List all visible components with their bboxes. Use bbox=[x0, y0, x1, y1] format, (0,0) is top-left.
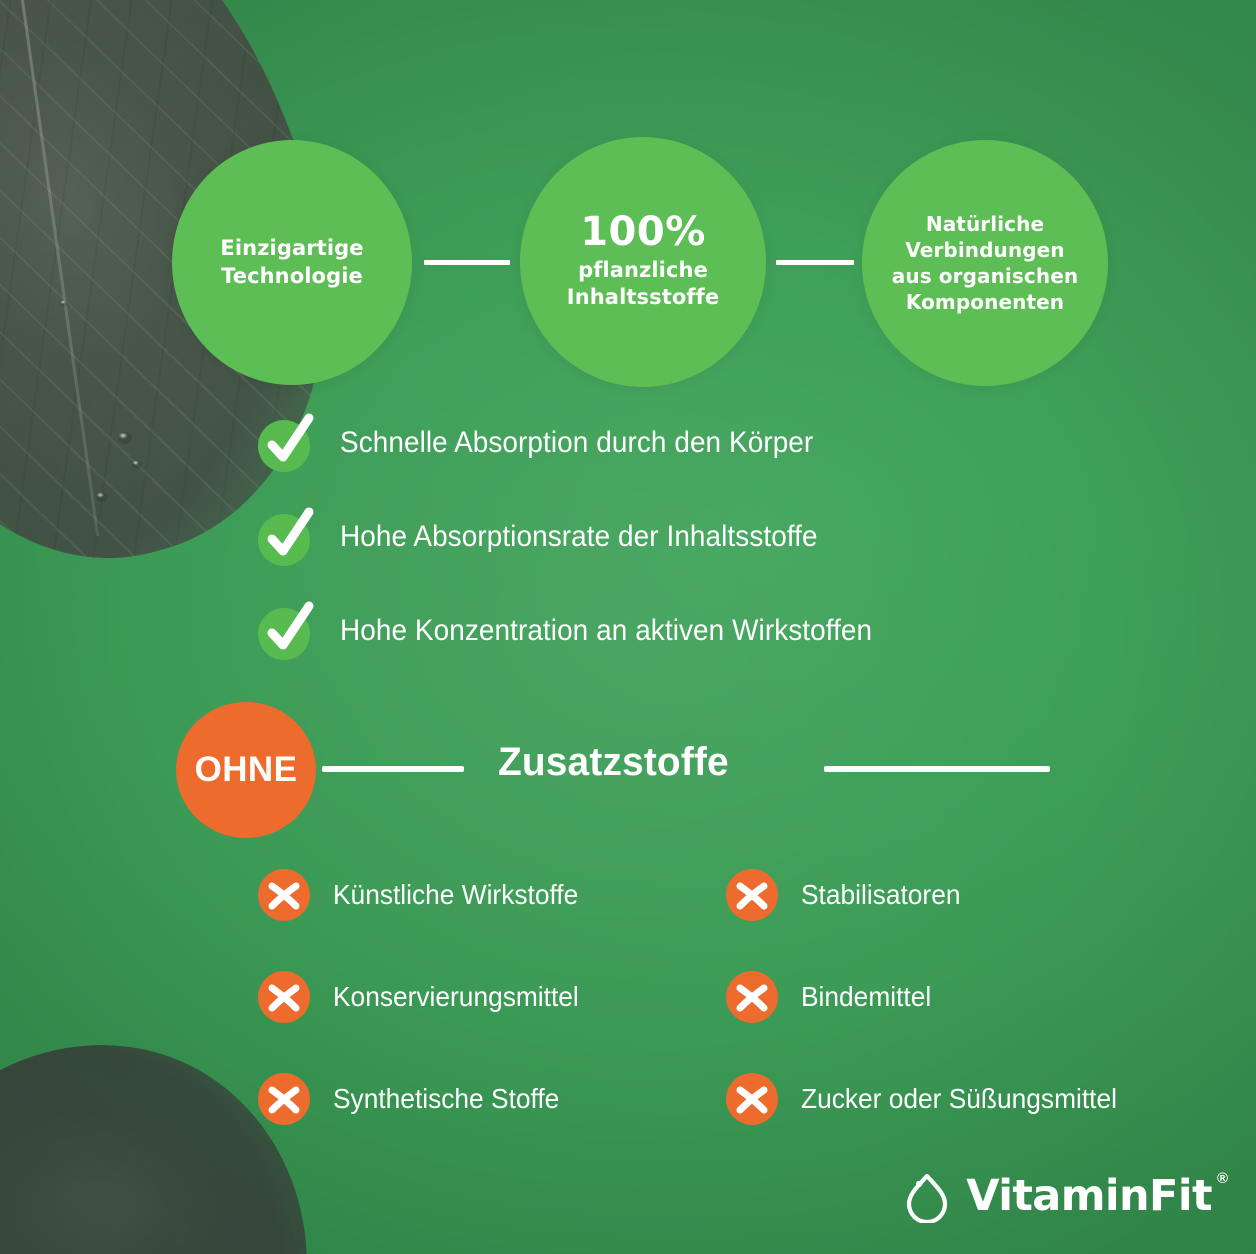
feature-circle-pflanzliche-inhaltsstoffe[interactable]: 100% pflanzliche Inhaltsstoffe bbox=[520, 137, 766, 387]
without-section-header: OHNE Zusatzstoffe bbox=[0, 700, 1256, 840]
feature-circle-line2: Verbindungen bbox=[905, 238, 1064, 262]
exclusion-label: Künstliche Wirkstoffe bbox=[333, 879, 578, 911]
water-drop-icon bbox=[902, 1169, 952, 1223]
exclusion-label: Bindemittel bbox=[801, 981, 931, 1013]
feature-circle-text: Natürliche Verbindungen aus organischen … bbox=[878, 211, 1092, 315]
feature-circle-text: 100% pflanzliche Inhaltsstoffe bbox=[553, 212, 733, 311]
registered-mark: ® bbox=[1217, 1170, 1228, 1187]
feature-circle-line1: Natürliche bbox=[926, 212, 1044, 236]
check-icon bbox=[258, 416, 312, 470]
benefit-row: Schnelle Absorption durch den Körper bbox=[258, 412, 849, 474]
feature-circle-text: Einzigartige Technologie bbox=[206, 235, 377, 290]
exclusion-label: Synthetische Stoffe bbox=[333, 1083, 559, 1115]
exclusion-label: Stabilisatoren bbox=[801, 879, 960, 911]
exclusion-label: Konservierungsmittel bbox=[333, 981, 579, 1013]
x-icon bbox=[258, 1073, 310, 1125]
brand-logo: VitaminFit ® bbox=[902, 1166, 1228, 1226]
exclusion-row: Synthetische Stoffe bbox=[258, 1070, 574, 1128]
feature-circle-line2: Inhaltsstoffe bbox=[567, 285, 719, 309]
ohne-rule-left bbox=[322, 766, 464, 772]
exclusion-row: Zucker oder Süßungsmittel bbox=[726, 1070, 1137, 1128]
brand-name: VitaminFit bbox=[966, 1171, 1212, 1221]
x-icon bbox=[258, 869, 310, 921]
circle-connector-line bbox=[776, 260, 854, 265]
exclusion-label: Zucker oder Süßungsmittel bbox=[801, 1083, 1117, 1115]
exclusion-row: Konservierungsmittel bbox=[258, 968, 594, 1026]
feature-circle-line4: Komponenten bbox=[906, 290, 1064, 314]
exclusion-row: Bindemittel bbox=[726, 968, 940, 1026]
feature-circle-line1: Einzigartige bbox=[220, 236, 363, 260]
check-icon bbox=[258, 510, 312, 564]
feature-circle-line1: pflanzliche bbox=[578, 258, 708, 282]
feature-circle-line3: aus organischen bbox=[892, 264, 1078, 288]
benefit-label: Hohe Konzentration an aktiven Wirkstoffe… bbox=[340, 614, 872, 648]
feature-circle-percent: 100% bbox=[567, 212, 719, 253]
benefit-row: Hohe Konzentration an aktiven Wirkstoffe… bbox=[258, 600, 912, 662]
without-section-title: Zusatzstoffe bbox=[498, 740, 729, 785]
x-icon bbox=[726, 1073, 778, 1125]
feature-circle-line2: Technologie bbox=[221, 264, 363, 288]
feature-circle-natuerliche-verbindungen[interactable]: Natürliche Verbindungen aus organischen … bbox=[862, 140, 1108, 386]
exclusion-row: Künstliche Wirkstoffe bbox=[258, 866, 594, 924]
feature-circle-einzigartige-technologie[interactable]: Einzigartige Technologie bbox=[172, 140, 412, 385]
exclusion-row: Stabilisatoren bbox=[726, 866, 971, 924]
ohne-rule-right bbox=[824, 766, 1050, 772]
benefit-row: Hohe Absorptionsrate der Inhaltsstoffe bbox=[258, 506, 854, 568]
benefit-label: Schnelle Absorption durch den Körper bbox=[340, 426, 813, 460]
top-feature-row: Einzigartige Technologie 100% pflanzlich… bbox=[0, 0, 1256, 400]
circle-connector-line bbox=[424, 260, 510, 265]
ohne-badge: OHNE bbox=[176, 702, 316, 838]
x-icon bbox=[726, 869, 778, 921]
infographic-canvas: Einzigartige Technologie 100% pflanzlich… bbox=[0, 0, 1256, 1254]
x-icon bbox=[726, 971, 778, 1023]
check-icon bbox=[258, 604, 312, 658]
x-icon bbox=[258, 971, 310, 1023]
benefit-label: Hohe Absorptionsrate der Inhaltsstoffe bbox=[340, 520, 818, 554]
